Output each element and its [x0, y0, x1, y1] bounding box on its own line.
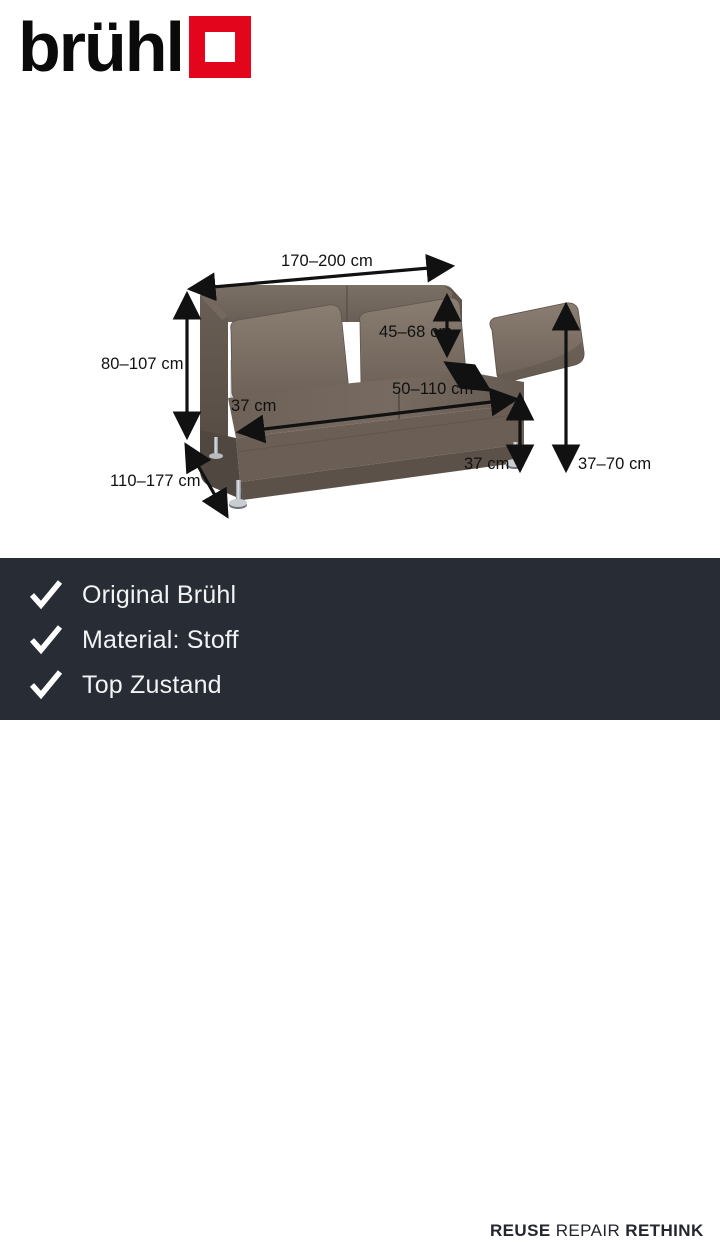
feature-item-material: Material: Stoff [30, 621, 239, 659]
product-image-area: brühl [0, 0, 720, 558]
check-icon [30, 670, 62, 700]
revive-wordmark: revive [550, 1146, 692, 1196]
dimension-label-seat-width: 37 cm [231, 397, 276, 416]
revive-logo: revive REUSE REPAIR RETHINK [478, 1142, 716, 1247]
revive-tagline-rethink: RETHINK [625, 1221, 703, 1240]
sofa-diagram [0, 0, 720, 558]
dimension-label-seat-height: 37 cm [464, 455, 509, 474]
dimension-label-back-height: 45–68 cm [379, 323, 452, 342]
dimension-label-height: 80–107 cm [101, 355, 184, 374]
dimension-label-width: 170–200 cm [281, 252, 373, 271]
revive-tagline-reuse: REUSE [490, 1221, 551, 1240]
check-icon [30, 625, 62, 655]
revive-mark-row: revive [478, 1142, 716, 1200]
feature-label-material: Material: Stoff [82, 626, 239, 655]
feature-item-original: Original Brühl [30, 576, 239, 614]
revive-tagline-repair: REPAIR [556, 1221, 620, 1240]
feature-label-condition: Top Zustand [82, 671, 222, 700]
check-icon [30, 580, 62, 610]
footer-bar: Original Brühl Material: Stoff Top Zusta… [0, 558, 720, 720]
revive-blob-icon [478, 1142, 536, 1200]
feature-item-condition: Top Zustand [30, 666, 239, 704]
dimension-label-depth: 110–177 cm [110, 472, 201, 491]
revive-tagline-box: REUSE REPAIR RETHINK [478, 1214, 716, 1247]
feature-label-original: Original Brühl [82, 581, 236, 610]
dimension-label-arm-height: 37–70 cm [578, 455, 651, 474]
revive-tagline: REUSE REPAIR RETHINK [490, 1221, 704, 1240]
dimension-label-seat-depth: 50–110 cm [392, 380, 473, 399]
feature-list: Original Brühl Material: Stoff Top Zusta… [30, 576, 239, 704]
